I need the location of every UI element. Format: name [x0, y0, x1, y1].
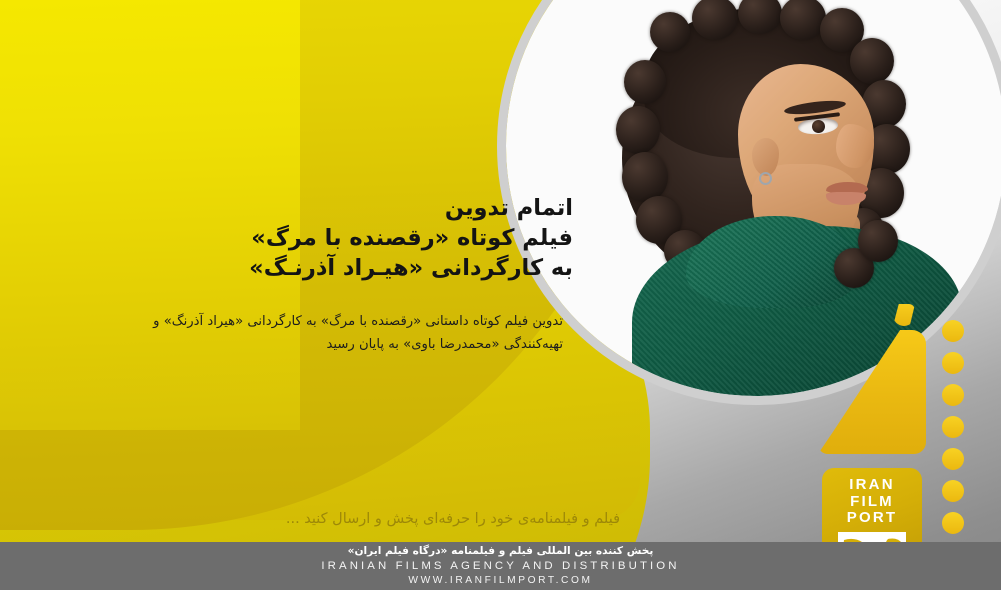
- subheadline: تدوین فیلم کوتاه داستانی «رقصنده با مرگ»…: [43, 310, 563, 356]
- headline: اتمام تدوین فیلم کوتاه «رقصنده با مرگ» ب…: [233, 193, 573, 283]
- logo-wordmark: IRAN FILM PORT: [822, 477, 922, 527]
- hair-curl: [622, 152, 668, 202]
- filmstrip-perforation: [942, 384, 964, 406]
- filmstrip-perforation: [942, 480, 964, 502]
- logo-line-3: PORT: [847, 509, 897, 526]
- headline-line-3: به کارگردانی «هیـراد آذرنـگ»: [233, 253, 573, 283]
- filmstrip-perforation: [942, 416, 964, 438]
- subheadline-line-1: تدوین فیلم کوتاه داستانی «رقصنده با مرگ»…: [43, 310, 563, 333]
- footer-website-url[interactable]: WWW.IRANFILMPORT.COM: [0, 574, 1001, 588]
- footer-english-text: IRANIAN FILMS AGENCY AND DISTRIBUTION: [0, 558, 1001, 574]
- hair-curl: [650, 12, 690, 52]
- poster-canvas: IRAN FILM PORT اتمام تدوین فیلم کوتاه «ر…: [0, 0, 1001, 590]
- hair-curl: [858, 220, 898, 262]
- logo-line-2: FILM: [850, 493, 894, 510]
- filmstrip-perforation: [942, 320, 964, 342]
- hair-curl: [624, 60, 666, 104]
- filmstrip-perforation: [942, 352, 964, 374]
- iris: [812, 120, 825, 133]
- headline-line-2: فیلم کوتاه «رقصنده با مرگ»: [233, 223, 573, 253]
- tagline: فیلم و فیلمنامه‌ی خود را حرفه‌ای پخش و ا…: [190, 509, 620, 529]
- subheadline-line-2: تهیه‌کنندگی «محمدرضا باوی» به پایان رسید: [43, 333, 563, 356]
- earring: [759, 172, 772, 185]
- filmstrip-perforation: [942, 512, 964, 534]
- filmstrip-perforation: [942, 448, 964, 470]
- hair-curl: [850, 38, 894, 84]
- footer-persian-text: پخش کننده بین المللی فیلم و فیلمنامه «در…: [0, 542, 1001, 558]
- headline-line-1: اتمام تدوین: [233, 193, 573, 223]
- logo-line-1: IRAN: [849, 476, 894, 493]
- footer-bar: پخش کننده بین المللی فیلم و فیلمنامه «در…: [0, 542, 1001, 590]
- hair-curl: [616, 106, 660, 154]
